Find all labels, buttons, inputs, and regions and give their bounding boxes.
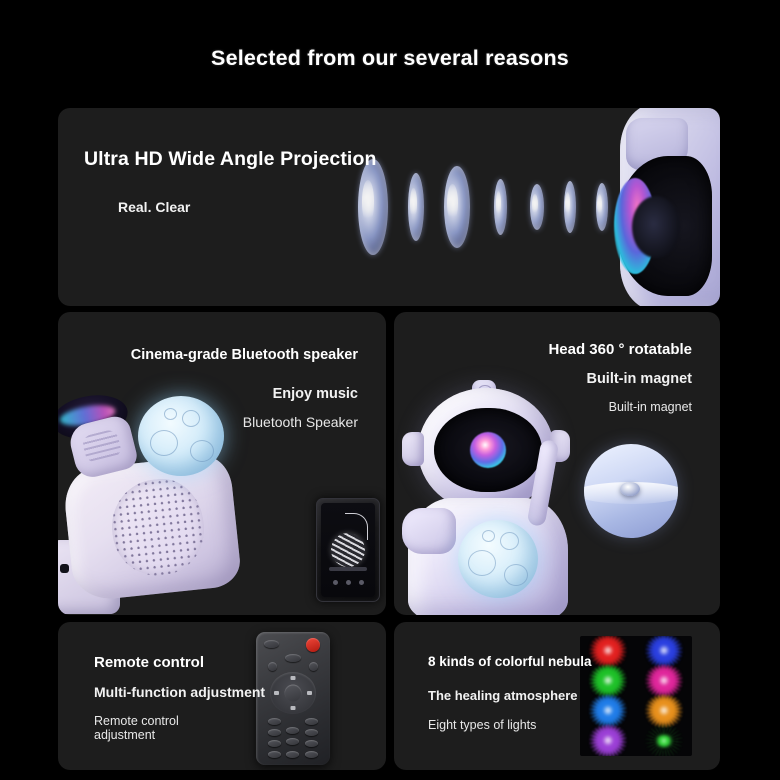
- panel-nebula[interactable]: 8 kinds of colorful nebula The healing a…: [394, 622, 720, 770]
- projection-subtitle: Real. Clear: [118, 199, 190, 215]
- nebula-core-icon: [588, 636, 628, 666]
- astronaut-ear-left: [402, 432, 424, 466]
- remote-title: Remote control: [94, 654, 204, 671]
- projector-visor: [616, 156, 712, 296]
- moon-ball-graphic: [138, 396, 224, 476]
- nebula-swatch-blue: [636, 636, 692, 666]
- panel-remote[interactable]: Remote control Multi-function adjustment…: [58, 622, 386, 770]
- product-feature-poster: Selected from our several reasons Ultra …: [0, 0, 780, 780]
- magnet-icon: [620, 482, 640, 496]
- nebula-swatch-purple-pink: [580, 726, 636, 756]
- remote-button-b: [309, 662, 318, 671]
- lens-element-2: [408, 173, 424, 241]
- remote-button-mode: [285, 654, 301, 662]
- projector-lens-icon: [470, 432, 506, 468]
- lens-element-5: [530, 184, 544, 230]
- remote-button-r1c1: [268, 718, 281, 725]
- remote-button-r2c2: [286, 727, 299, 734]
- remote-power-button: [306, 638, 320, 652]
- panel-rotation[interactable]: Head 360 ° rotatable Built-in magnet Bui…: [394, 312, 720, 615]
- smartphone-graphic: [316, 498, 380, 602]
- astronaut-visor: [434, 408, 542, 492]
- lens-element-6: [564, 181, 576, 233]
- page-title: Selected from our several reasons: [0, 46, 780, 71]
- astronaut-moon-ball: [458, 520, 538, 598]
- nebula-core-icon: [654, 735, 674, 747]
- remote-button-r4c1: [268, 751, 281, 758]
- remote-button-r2c1: [268, 729, 281, 736]
- remote-caption: Remote control adjustment: [94, 714, 179, 742]
- lens-element-7: [596, 183, 608, 231]
- dpad-right-icon: [307, 691, 312, 695]
- remote-button-r3c1: [268, 740, 281, 747]
- projection-title: Ultra HD Wide Angle Projection: [84, 148, 376, 171]
- speaker-subtitle: Enjoy music: [273, 386, 358, 402]
- nebula-subtitle: The healing atmosphere: [428, 688, 578, 703]
- remote-dpad: [270, 672, 316, 714]
- remote-button-a: [268, 662, 277, 671]
- speaker-title: Cinema-grade Bluetooth speaker: [131, 347, 358, 363]
- lens-element-4: [494, 179, 507, 235]
- phone-screen: [321, 503, 375, 597]
- remote-button-r3c2: [286, 738, 299, 745]
- nebula-core-icon: [644, 666, 684, 696]
- speaker-caption: Bluetooth Speaker: [243, 414, 358, 430]
- remote-control-graphic: [256, 632, 330, 765]
- astronaut-projector-graphic: [400, 386, 610, 615]
- phone-player-controls: [321, 580, 375, 585]
- astronaut-arm-left: [402, 508, 456, 554]
- speaker-grille-icon: [107, 475, 209, 580]
- nebula-swatch-cyan-blue: [580, 696, 636, 726]
- nebula-title: 8 kinds of colorful nebula: [428, 654, 592, 669]
- remote-button-r2c3: [305, 729, 318, 736]
- dpad-down-icon: [291, 706, 296, 710]
- projector-head-graphic: [620, 108, 720, 306]
- nebula-swatch-magenta: [636, 666, 692, 696]
- rotation-subtitle: Built-in magnet: [586, 371, 692, 387]
- nebula-color-grid: [580, 636, 692, 756]
- remote-button-r1c3: [305, 718, 318, 725]
- panel-speaker[interactable]: Cinema-grade Bluetooth speaker Enjoy mus…: [58, 312, 386, 615]
- dpad-up-icon: [291, 676, 296, 680]
- remote-button-r4c3: [305, 751, 318, 758]
- panel-projection[interactable]: Ultra HD Wide Angle Projection Real. Cle…: [58, 108, 720, 306]
- remote-button-led: [264, 640, 279, 648]
- dpad-left-icon: [274, 691, 279, 695]
- lens-element-3: [444, 166, 470, 248]
- lens-array-graphic: [358, 108, 720, 306]
- nebula-core-icon: [588, 666, 628, 696]
- nebula-swatch-green-dot: [636, 726, 692, 756]
- album-art-icon: [331, 533, 365, 567]
- nebula-core-icon: [588, 696, 628, 726]
- rotation-title: Head 360 ° rotatable: [548, 341, 692, 358]
- nebula-swatch-orange-green: [636, 696, 692, 726]
- nebula-core-icon: [588, 726, 628, 756]
- phone-progress-bar: [329, 567, 367, 571]
- nebula-caption: Eight types of lights: [428, 718, 536, 732]
- nebula-core-icon: [644, 696, 684, 726]
- nebula-swatch-green: [580, 666, 636, 696]
- remote-button-r4c2: [286, 751, 299, 758]
- nebula-core-icon: [644, 636, 684, 666]
- dpad-ok-button: [285, 685, 302, 702]
- remote-subtitle: Multi-function adjustment: [94, 684, 265, 700]
- remote-button-r3c3: [305, 740, 318, 747]
- rotation-caption: Built-in magnet: [609, 400, 692, 414]
- lens-element-1: [358, 159, 388, 255]
- projector-lens-core: [632, 196, 680, 258]
- magnet-detail-circle: [584, 444, 678, 538]
